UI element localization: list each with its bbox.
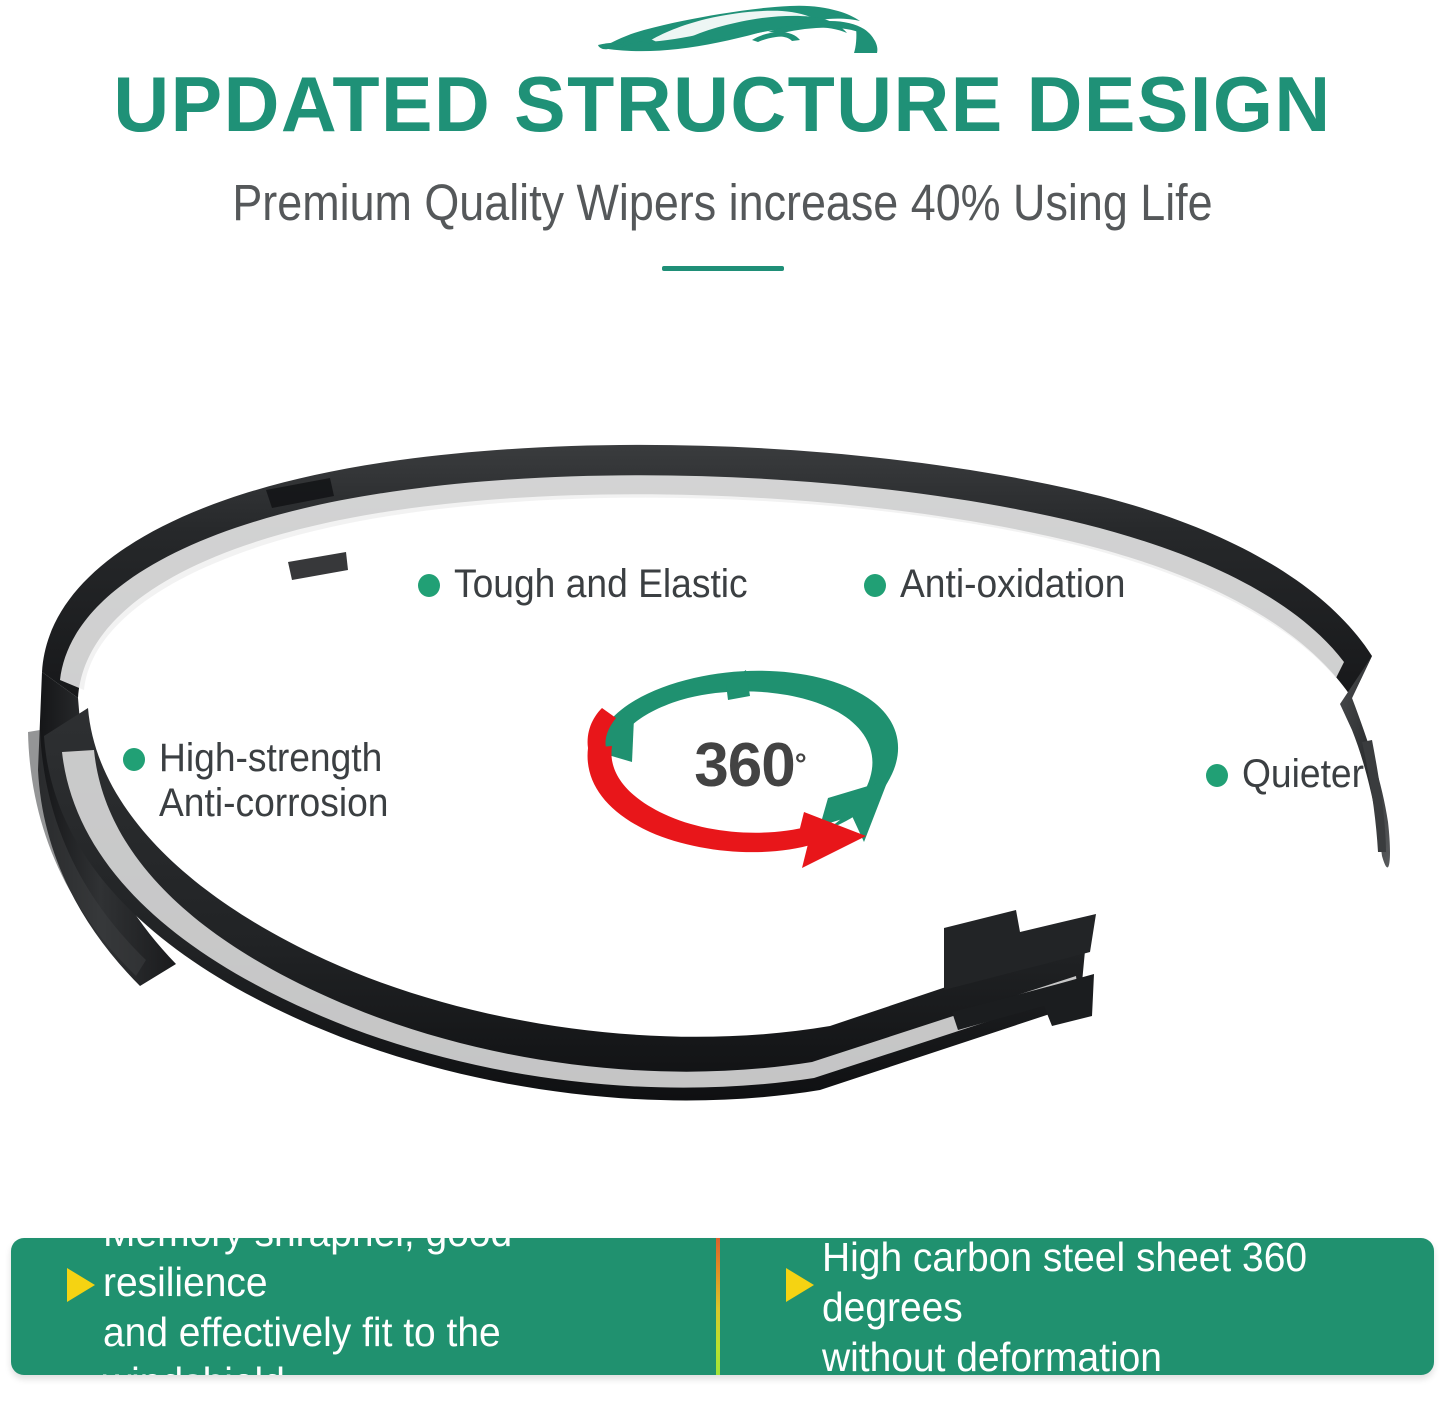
- feature-callout-tough: Tough and Elastic: [418, 562, 770, 607]
- triangle-right-icon: [67, 1268, 95, 1302]
- feature-label: High-strength Anti-corrosion: [159, 736, 388, 826]
- car-silhouette-icon: [592, 2, 882, 60]
- banner-memory-shrapnel: Memory shrapnel, good resilience and eff…: [11, 1238, 716, 1375]
- bullet-dot-icon: [418, 574, 440, 597]
- feature-label: Anti-oxidation: [900, 562, 1125, 607]
- feature-callout-anti-oxidation: Anti-oxidation: [864, 562, 1142, 607]
- badge-value: 360°: [576, 656, 916, 878]
- feature-callout-quieter: Quieter: [1206, 752, 1373, 797]
- title-divider: [662, 266, 784, 271]
- triangle-right-icon: [786, 1268, 814, 1302]
- blade-notch-b: [288, 552, 348, 580]
- banner-high-carbon-steel: High carbon steel sheet 360 degrees with…: [716, 1238, 1435, 1375]
- bullet-dot-icon: [123, 748, 145, 771]
- rotation-360-badge: 360°: [576, 656, 916, 878]
- feature-label: Tough and Elastic: [454, 562, 748, 607]
- feature-label: Quieter: [1242, 752, 1364, 797]
- feature-banner-row: Memory shrapnel, good resilience and eff…: [11, 1238, 1434, 1375]
- page-title: UPDATED STRUCTURE DESIGN: [7, 62, 1438, 146]
- feature-callout-high-strength: High-strength Anti-corrosion: [123, 736, 406, 826]
- product-infographic: UPDATED STRUCTURE DESIGN Premium Quality…: [0, 0, 1445, 1421]
- banner-divider: [716, 1238, 720, 1375]
- bullet-dot-icon: [864, 574, 886, 597]
- banner-text: High carbon steel sheet 360 degrees with…: [822, 1238, 1383, 1375]
- badge-number: 360: [694, 730, 794, 801]
- bullet-dot-icon: [1206, 764, 1228, 787]
- banner-text: Memory shrapnel, good resilience and eff…: [103, 1238, 664, 1375]
- page-subtitle: Premium Quality Wipers increase 40% Usin…: [87, 172, 1359, 234]
